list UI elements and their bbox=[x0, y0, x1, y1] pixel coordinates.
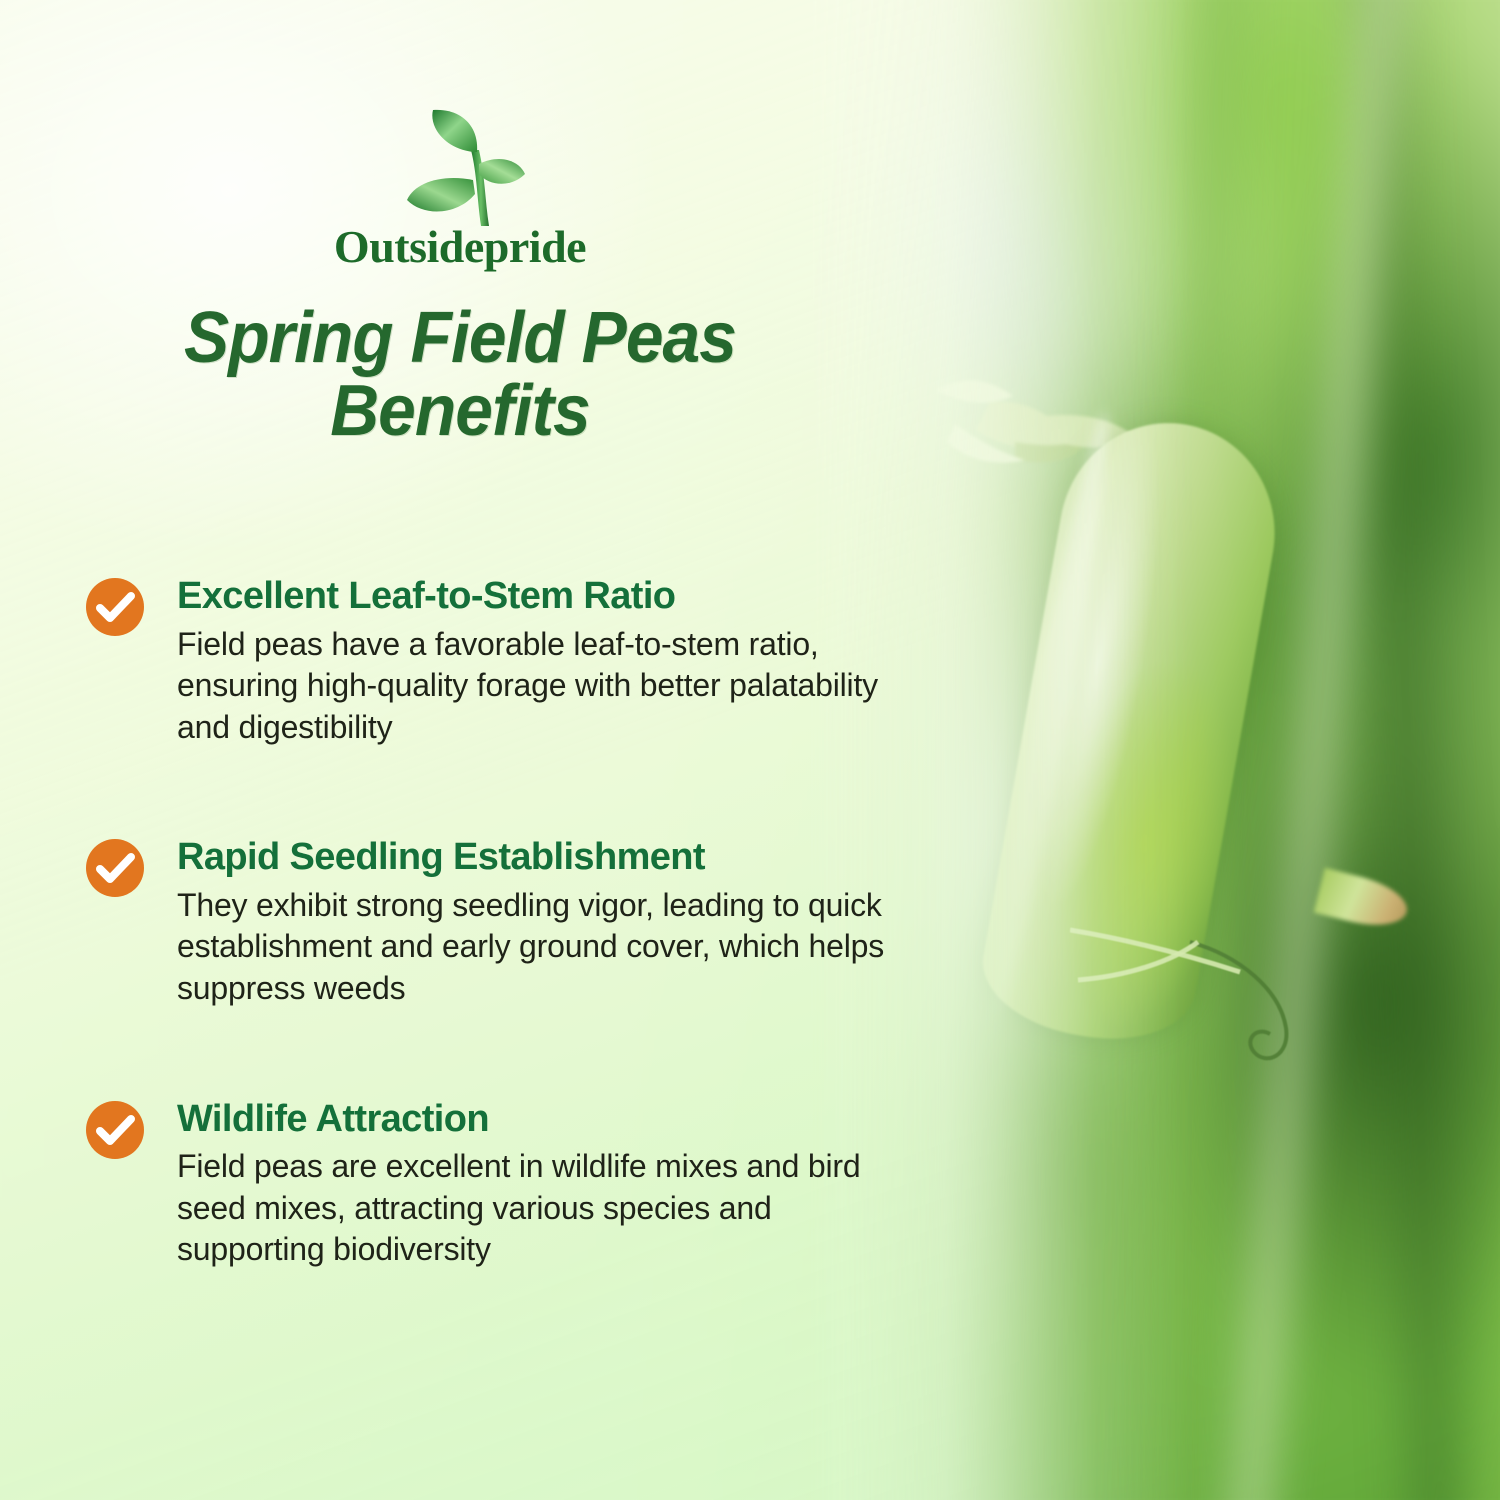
check-circle-icon bbox=[85, 577, 145, 637]
benefit-item: Rapid Seedling Establishment They exhibi… bbox=[85, 836, 915, 1009]
benefit-item: Excellent Leaf-to-Stem Ratio Field peas … bbox=[85, 575, 915, 748]
benefit-body: They exhibit strong seedling vigor, lead… bbox=[177, 885, 915, 1010]
benefit-body: Field peas are excellent in wildlife mix… bbox=[177, 1146, 915, 1271]
page-title: Spring Field Peas Benefits bbox=[84, 302, 836, 449]
title-line-1: Spring Field Peas bbox=[184, 298, 736, 378]
brand-logo[interactable]: Outsidepride bbox=[0, 108, 920, 273]
check-circle-icon bbox=[85, 838, 145, 898]
benefit-title: Rapid Seedling Establishment bbox=[177, 836, 915, 879]
benefit-item: Wildlife Attraction Field peas are excel… bbox=[85, 1098, 915, 1271]
benefit-title: Wildlife Attraction bbox=[177, 1098, 915, 1141]
benefit-body: Field peas have a favorable leaf-to-stem… bbox=[177, 624, 915, 749]
benefit-title: Excellent Leaf-to-Stem Ratio bbox=[177, 575, 915, 618]
brand-wordmark: Outsidepride bbox=[0, 220, 920, 273]
title-line-2: Benefits bbox=[84, 375, 836, 448]
benefits-list: Excellent Leaf-to-Stem Ratio Field peas … bbox=[85, 575, 915, 1271]
check-circle-icon bbox=[85, 1100, 145, 1160]
infographic-poster: Outsidepride Spring Field Peas Benefits … bbox=[0, 0, 1500, 1500]
plant-sprout-icon bbox=[385, 108, 535, 228]
